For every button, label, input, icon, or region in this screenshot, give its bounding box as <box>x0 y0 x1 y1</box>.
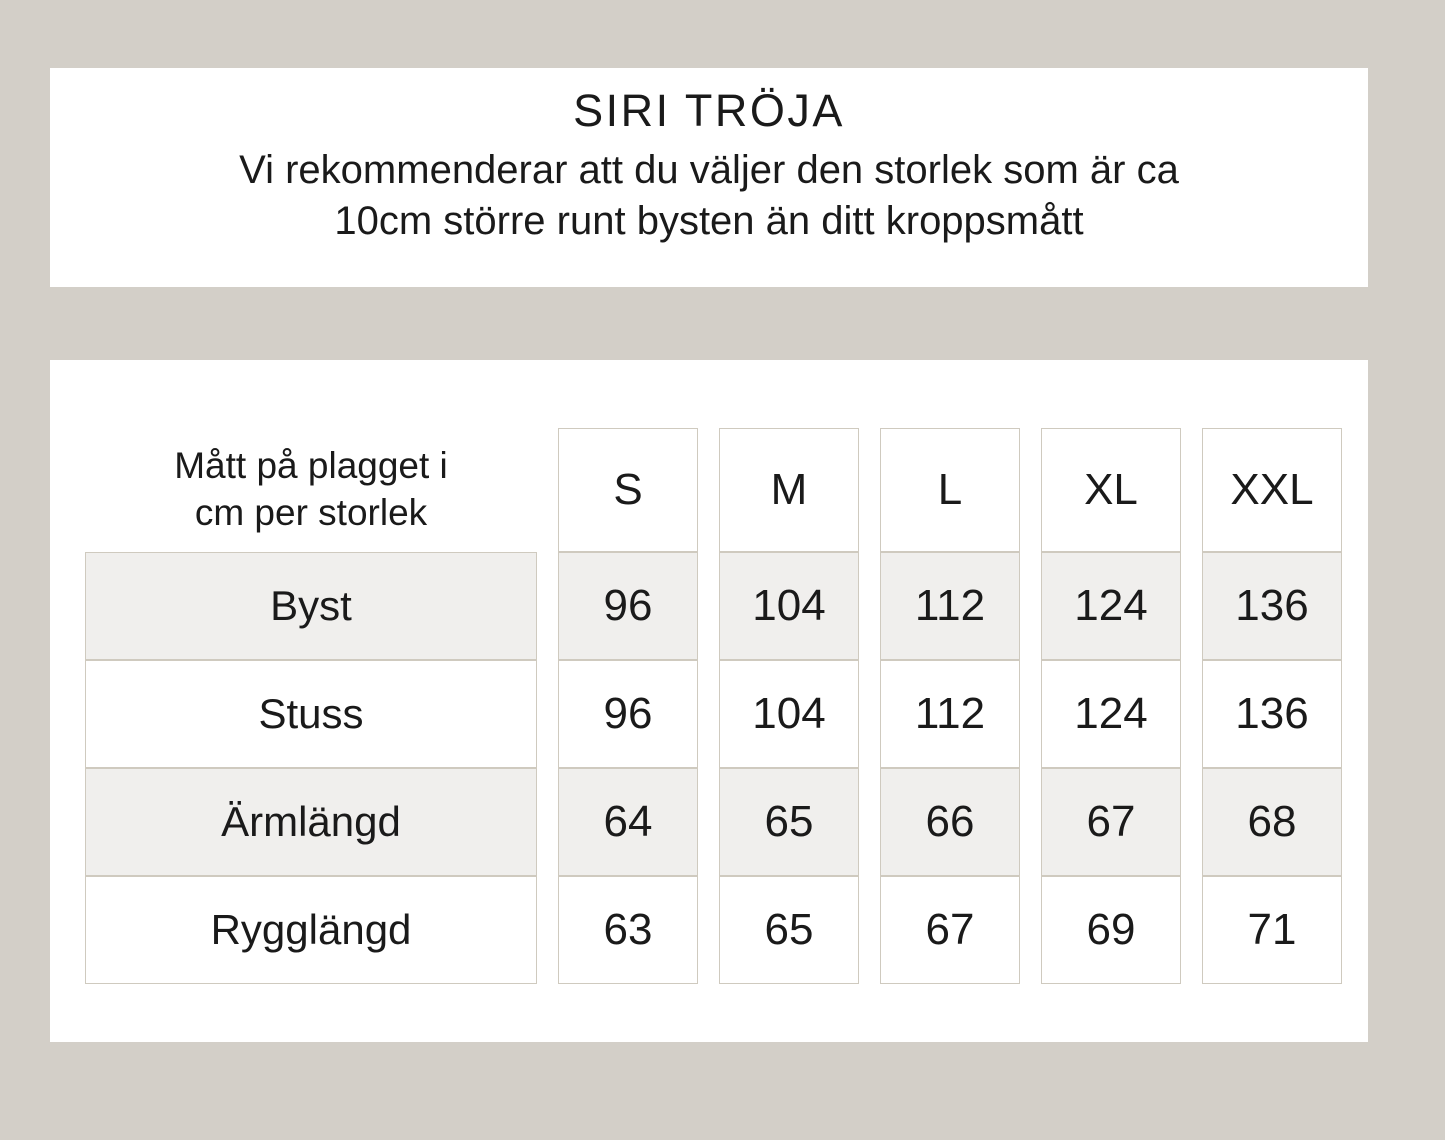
recommendation-line-2: 10cm större runt bysten än ditt kroppsmå… <box>239 196 1179 247</box>
size-chart-page: SIRI TRÖJA Vi rekommenderar att du välje… <box>0 0 1445 1140</box>
cell-rygglangd-m: 65 <box>719 876 859 984</box>
cell-stuss-xl: 124 <box>1041 660 1181 768</box>
size-header-s: S <box>558 428 698 552</box>
size-table: Mått på plagget i cm per storlek S M L X… <box>64 428 1363 984</box>
cell-rygglangd-xxl: 71 <box>1202 876 1342 984</box>
measurement-label-header-line-1: Mått på plagget i <box>85 443 537 490</box>
cell-armlangd-s: 64 <box>558 768 698 876</box>
size-header-xl: XL <box>1041 428 1181 552</box>
cell-byst-s: 96 <box>558 552 698 660</box>
cell-byst-xxl: 136 <box>1202 552 1342 660</box>
size-header-m: M <box>719 428 859 552</box>
cell-byst-l: 112 <box>880 552 1020 660</box>
table-row: Byst 96 104 112 124 136 <box>85 552 1342 660</box>
cell-stuss-m: 104 <box>719 660 859 768</box>
size-header-l: L <box>880 428 1020 552</box>
measurement-label-header-line-2: cm per storlek <box>85 490 537 537</box>
row-label-armlangd: Ärmlängd <box>85 768 537 876</box>
cell-stuss-xxl: 136 <box>1202 660 1342 768</box>
cell-byst-xl: 124 <box>1041 552 1181 660</box>
cell-rygglangd-xl: 69 <box>1041 876 1181 984</box>
size-table-wrapper: Mått på plagget i cm per storlek S M L X… <box>85 428 1340 984</box>
cell-armlangd-m: 65 <box>719 768 859 876</box>
header-panel: SIRI TRÖJA Vi rekommenderar att du välje… <box>50 68 1368 287</box>
table-header-row: Mått på plagget i cm per storlek S M L X… <box>85 428 1342 552</box>
row-label-rygglangd: Rygglängd <box>85 876 537 984</box>
size-header-xxl: XXL <box>1202 428 1342 552</box>
size-recommendation-text: Vi rekommenderar att du väljer den storl… <box>239 145 1179 247</box>
table-row: Stuss 96 104 112 124 136 <box>85 660 1342 768</box>
cell-rygglangd-s: 63 <box>558 876 698 984</box>
cell-rygglangd-l: 67 <box>880 876 1020 984</box>
measurements-panel: Mått på plagget i cm per storlek S M L X… <box>50 360 1368 1042</box>
cell-stuss-l: 112 <box>880 660 1020 768</box>
cell-armlangd-l: 66 <box>880 768 1020 876</box>
cell-armlangd-xl: 67 <box>1041 768 1181 876</box>
recommendation-line-1: Vi rekommenderar att du väljer den storl… <box>239 145 1179 196</box>
row-label-stuss: Stuss <box>85 660 537 768</box>
measurement-label-header: Mått på plagget i cm per storlek <box>85 428 537 552</box>
table-row: Ärmlängd 64 65 66 67 68 <box>85 768 1342 876</box>
page-title: SIRI TRÖJA <box>573 84 845 139</box>
cell-stuss-s: 96 <box>558 660 698 768</box>
row-label-byst: Byst <box>85 552 537 660</box>
cell-byst-m: 104 <box>719 552 859 660</box>
cell-armlangd-xxl: 68 <box>1202 768 1342 876</box>
table-row: Rygglängd 63 65 67 69 71 <box>85 876 1342 984</box>
